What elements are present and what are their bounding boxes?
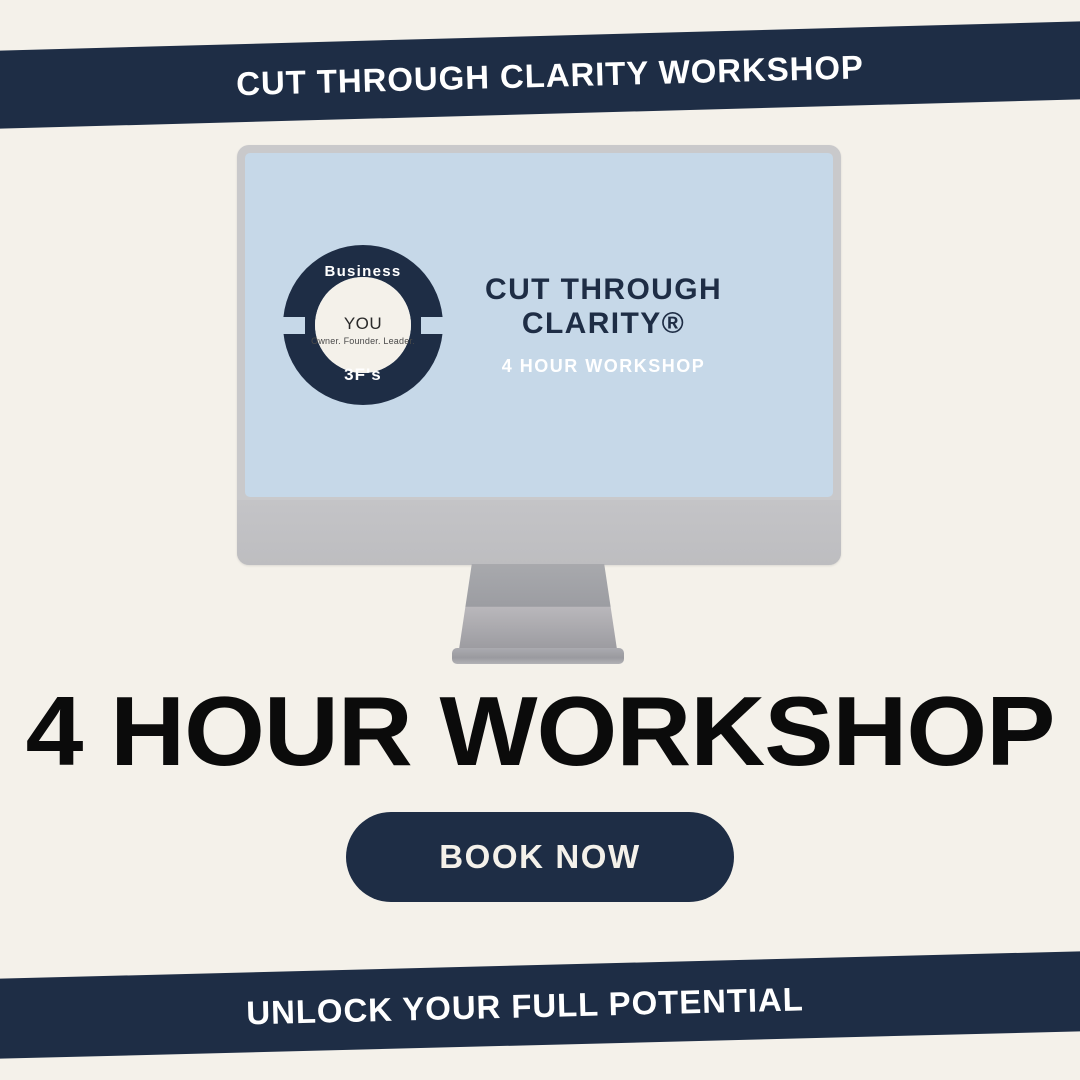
top-banner-text: CUT THROUGH CLARITY WORKSHOP (236, 50, 864, 100)
monitor-chin (237, 500, 841, 565)
poster-canvas: CUT THROUGH CLARITY WORKSHOP (0, 0, 1080, 1080)
monitor-stand-base (452, 648, 624, 664)
page-title: 4 HOUR WORKSHOP (0, 682, 1080, 780)
logo-ring-top-label: Business (279, 263, 447, 280)
screen-content: Business 3F's YOU Owner. Founder. Leader… (245, 153, 833, 497)
screen-brand-block: CUT THROUGH CLARITY® 4 HOUR WORKSHOP (485, 273, 722, 377)
top-banner: CUT THROUGH CLARITY WORKSHOP (0, 21, 1080, 130)
logo-ring-bottom-label: 3F's (279, 365, 447, 385)
logo-center-title: YOU (279, 314, 447, 334)
brand-subtitle: 4 HOUR WORKSHOP (485, 356, 722, 377)
monitor-screen: Business 3F's YOU Owner. Founder. Leader… (245, 153, 833, 497)
cut-through-clarity-logo-icon: Business 3F's YOU Owner. Founder. Leader… (279, 241, 447, 409)
book-now-button[interactable]: BOOK NOW (346, 812, 734, 902)
logo-center-subtitle: Owner. Founder. Leader. (279, 336, 447, 346)
cta-container: BOOK NOW (0, 812, 1080, 902)
monitor-stand-neck (452, 564, 624, 656)
bottom-banner-text: UNLOCK YOUR FULL POTENTIAL (246, 982, 804, 1029)
monitor-mockup: Business 3F's YOU Owner. Founder. Leader… (237, 145, 841, 565)
brand-line-1: CUT THROUGH (485, 273, 722, 307)
brand-line-2: CLARITY® (485, 307, 722, 341)
bottom-banner: UNLOCK YOUR FULL POTENTIAL (0, 951, 1080, 1060)
